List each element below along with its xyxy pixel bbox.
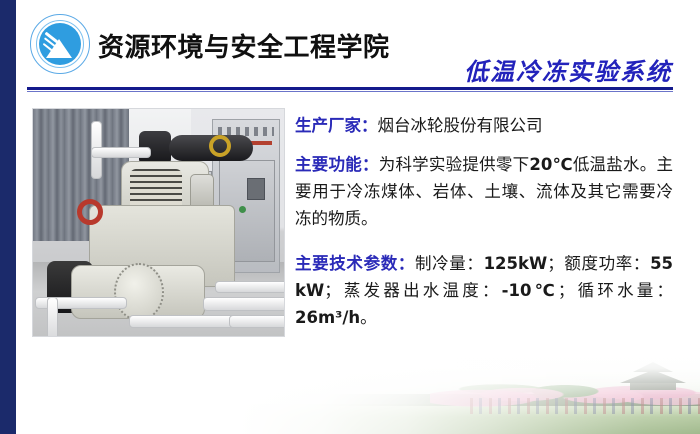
slide-left-border — [0, 0, 16, 434]
manufacturer-value: 烟台冰轮股份有限公司 — [378, 116, 543, 135]
manufacturer-paragraph: 生产厂家：烟台冰轮股份有限公司 — [295, 112, 673, 139]
header-divider-rule — [27, 87, 673, 90]
function-paragraph: 主要功能：为科学实验提供零下20℃低温盐水。主要用于冷冻煤体、岩体、土壤、流体及… — [295, 151, 673, 232]
campus-scenery-band — [0, 354, 700, 434]
param-3-value: -10℃ — [502, 281, 558, 300]
photo-pipe-right-1 — [215, 281, 285, 293]
param-sep-3: ； — [558, 281, 575, 300]
parameters-paragraph: 主要技术参数：制冷量：125kW；额度功率：55 kW；蒸发器出水温度：-10℃… — [295, 250, 673, 331]
scenery-left-fade — [0, 354, 700, 434]
equipment-photo — [32, 108, 285, 337]
param-sep-1: ； — [547, 254, 564, 273]
photo-pipe-horizontal-1 — [91, 147, 151, 158]
header-divider-rule-shadow — [27, 91, 673, 92]
param-3-name: 蒸发器出水温度： — [341, 281, 502, 300]
photo-red-valve-wheel — [77, 199, 103, 225]
school-name-heading: 资源环境与安全工程学院 — [98, 27, 390, 64]
photo-pipe-vertical-2 — [47, 297, 58, 337]
slide-canvas: 资源环境与安全工程学院 低温冷冻实验系统 — [0, 0, 700, 434]
param-end: 。 — [360, 308, 377, 327]
university-emblem-icon — [30, 14, 92, 76]
photo-pipe-bottom-3 — [229, 315, 285, 328]
cabinet-green-button — [239, 206, 246, 213]
photo-yellow-valve-wheel — [209, 135, 231, 157]
param-2-name: 额度功率： — [564, 254, 650, 273]
function-text-a: 为科学实验提供零下 — [379, 155, 530, 174]
param-1-value: 125kW — [484, 254, 548, 273]
slide-header: 资源环境与安全工程学院 低温冷冻实验系统 — [0, 0, 700, 96]
param-1-name: 制冷量： — [415, 254, 484, 273]
parameters-label: 主要技术参数： — [295, 254, 415, 273]
system-title-heading: 低温冷冻实验系统 — [464, 52, 672, 87]
param-4-name: 循环水量： — [574, 281, 673, 300]
photo-pressure-vessel — [71, 265, 205, 319]
param-4-value: 26m³/h — [295, 308, 360, 327]
description-content: 生产厂家：烟台冰轮股份有限公司 主要功能：为科学实验提供零下20℃低温盐水。主要… — [295, 112, 673, 343]
vessel-flange — [114, 263, 164, 321]
param-sep-2: ； — [324, 281, 341, 300]
function-label: 主要功能： — [295, 155, 379, 174]
function-temperature: 20℃ — [529, 155, 572, 174]
manufacturer-label: 生产厂家： — [295, 116, 378, 135]
emblem-disc — [39, 23, 81, 65]
cabinet-gauge — [247, 178, 265, 200]
photo-pipe-bottom-2 — [203, 297, 285, 311]
